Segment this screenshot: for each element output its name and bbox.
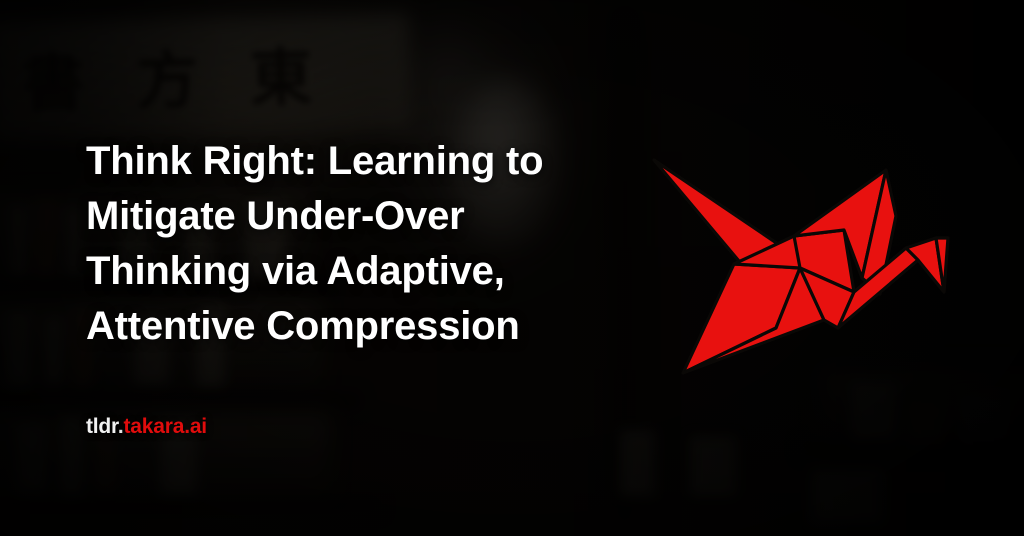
brand-wordmark: tldr.takara.ai bbox=[86, 416, 207, 437]
social-share-card: 書 方 東 bbox=[0, 0, 1024, 536]
card-content: Think Right: Learning to Mitigate Under-… bbox=[0, 0, 1024, 536]
brand-prefix: tldr. bbox=[86, 415, 124, 438]
brand-domain: takara.ai bbox=[124, 415, 207, 438]
origami-crane-logo bbox=[648, 152, 952, 384]
page-title: Think Right: Learning to Mitigate Under-… bbox=[86, 134, 616, 354]
